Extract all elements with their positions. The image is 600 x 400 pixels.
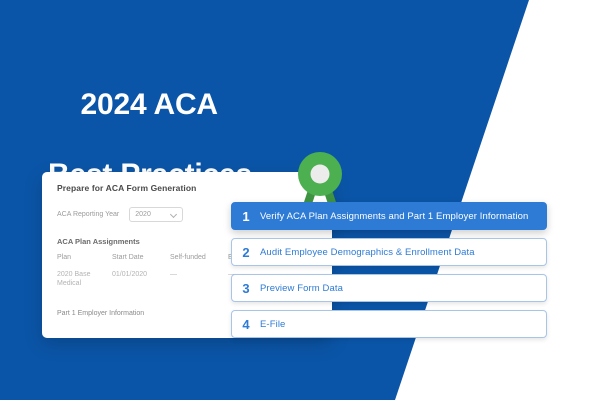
- part1-employer-information-label: Part 1 Employer Information: [57, 310, 144, 317]
- cell-start-date: 01/01/2020: [112, 270, 170, 288]
- column-header-self-funded: Self-funded: [170, 254, 228, 270]
- reporting-year-field: ACA Reporting Year 2020: [57, 207, 183, 222]
- step-number-3: 3: [232, 281, 260, 296]
- cell-self-funded: —: [170, 270, 228, 288]
- column-header-plan: Plan: [57, 254, 112, 270]
- step-label-3: Preview Form Data: [260, 283, 343, 294]
- app-card-title: Prepare for ACA Form Generation: [57, 183, 196, 193]
- step-number-1: 1: [232, 209, 260, 224]
- step-item-1[interactable]: 1 Verify ACA Plan Assignments and Part 1…: [231, 202, 547, 230]
- chevron-down-icon: [171, 212, 177, 218]
- step-item-2[interactable]: 2 Audit Employee Demographics & Enrollme…: [231, 238, 547, 266]
- plan-assignments-title: ACA Plan Assignments: [57, 237, 140, 246]
- step-number-2: 2: [232, 245, 260, 260]
- step-label-1: Verify ACA Plan Assignments and Part 1 E…: [260, 211, 528, 222]
- step-number-4: 4: [232, 317, 260, 332]
- promo-graphic: 2024 ACA Best Practices Prepare for ACA …: [0, 0, 600, 400]
- steps-list: 1 Verify ACA Plan Assignments and Part 1…: [231, 202, 547, 346]
- step-label-2: Audit Employee Demographics & Enrollment…: [260, 247, 475, 258]
- reporting-year-value: 2020: [135, 211, 151, 218]
- reporting-year-label: ACA Reporting Year: [57, 211, 119, 218]
- step-item-4[interactable]: 4 E-File: [231, 310, 547, 338]
- headline-line-1: 2024 ACA: [81, 88, 218, 121]
- reporting-year-select[interactable]: 2020: [129, 207, 183, 222]
- column-header-start-date: Start Date: [112, 254, 170, 270]
- step-label-4: E-File: [260, 319, 285, 330]
- cell-plan: 2020 Base Medical: [57, 270, 112, 288]
- step-item-3[interactable]: 3 Preview Form Data: [231, 274, 547, 302]
